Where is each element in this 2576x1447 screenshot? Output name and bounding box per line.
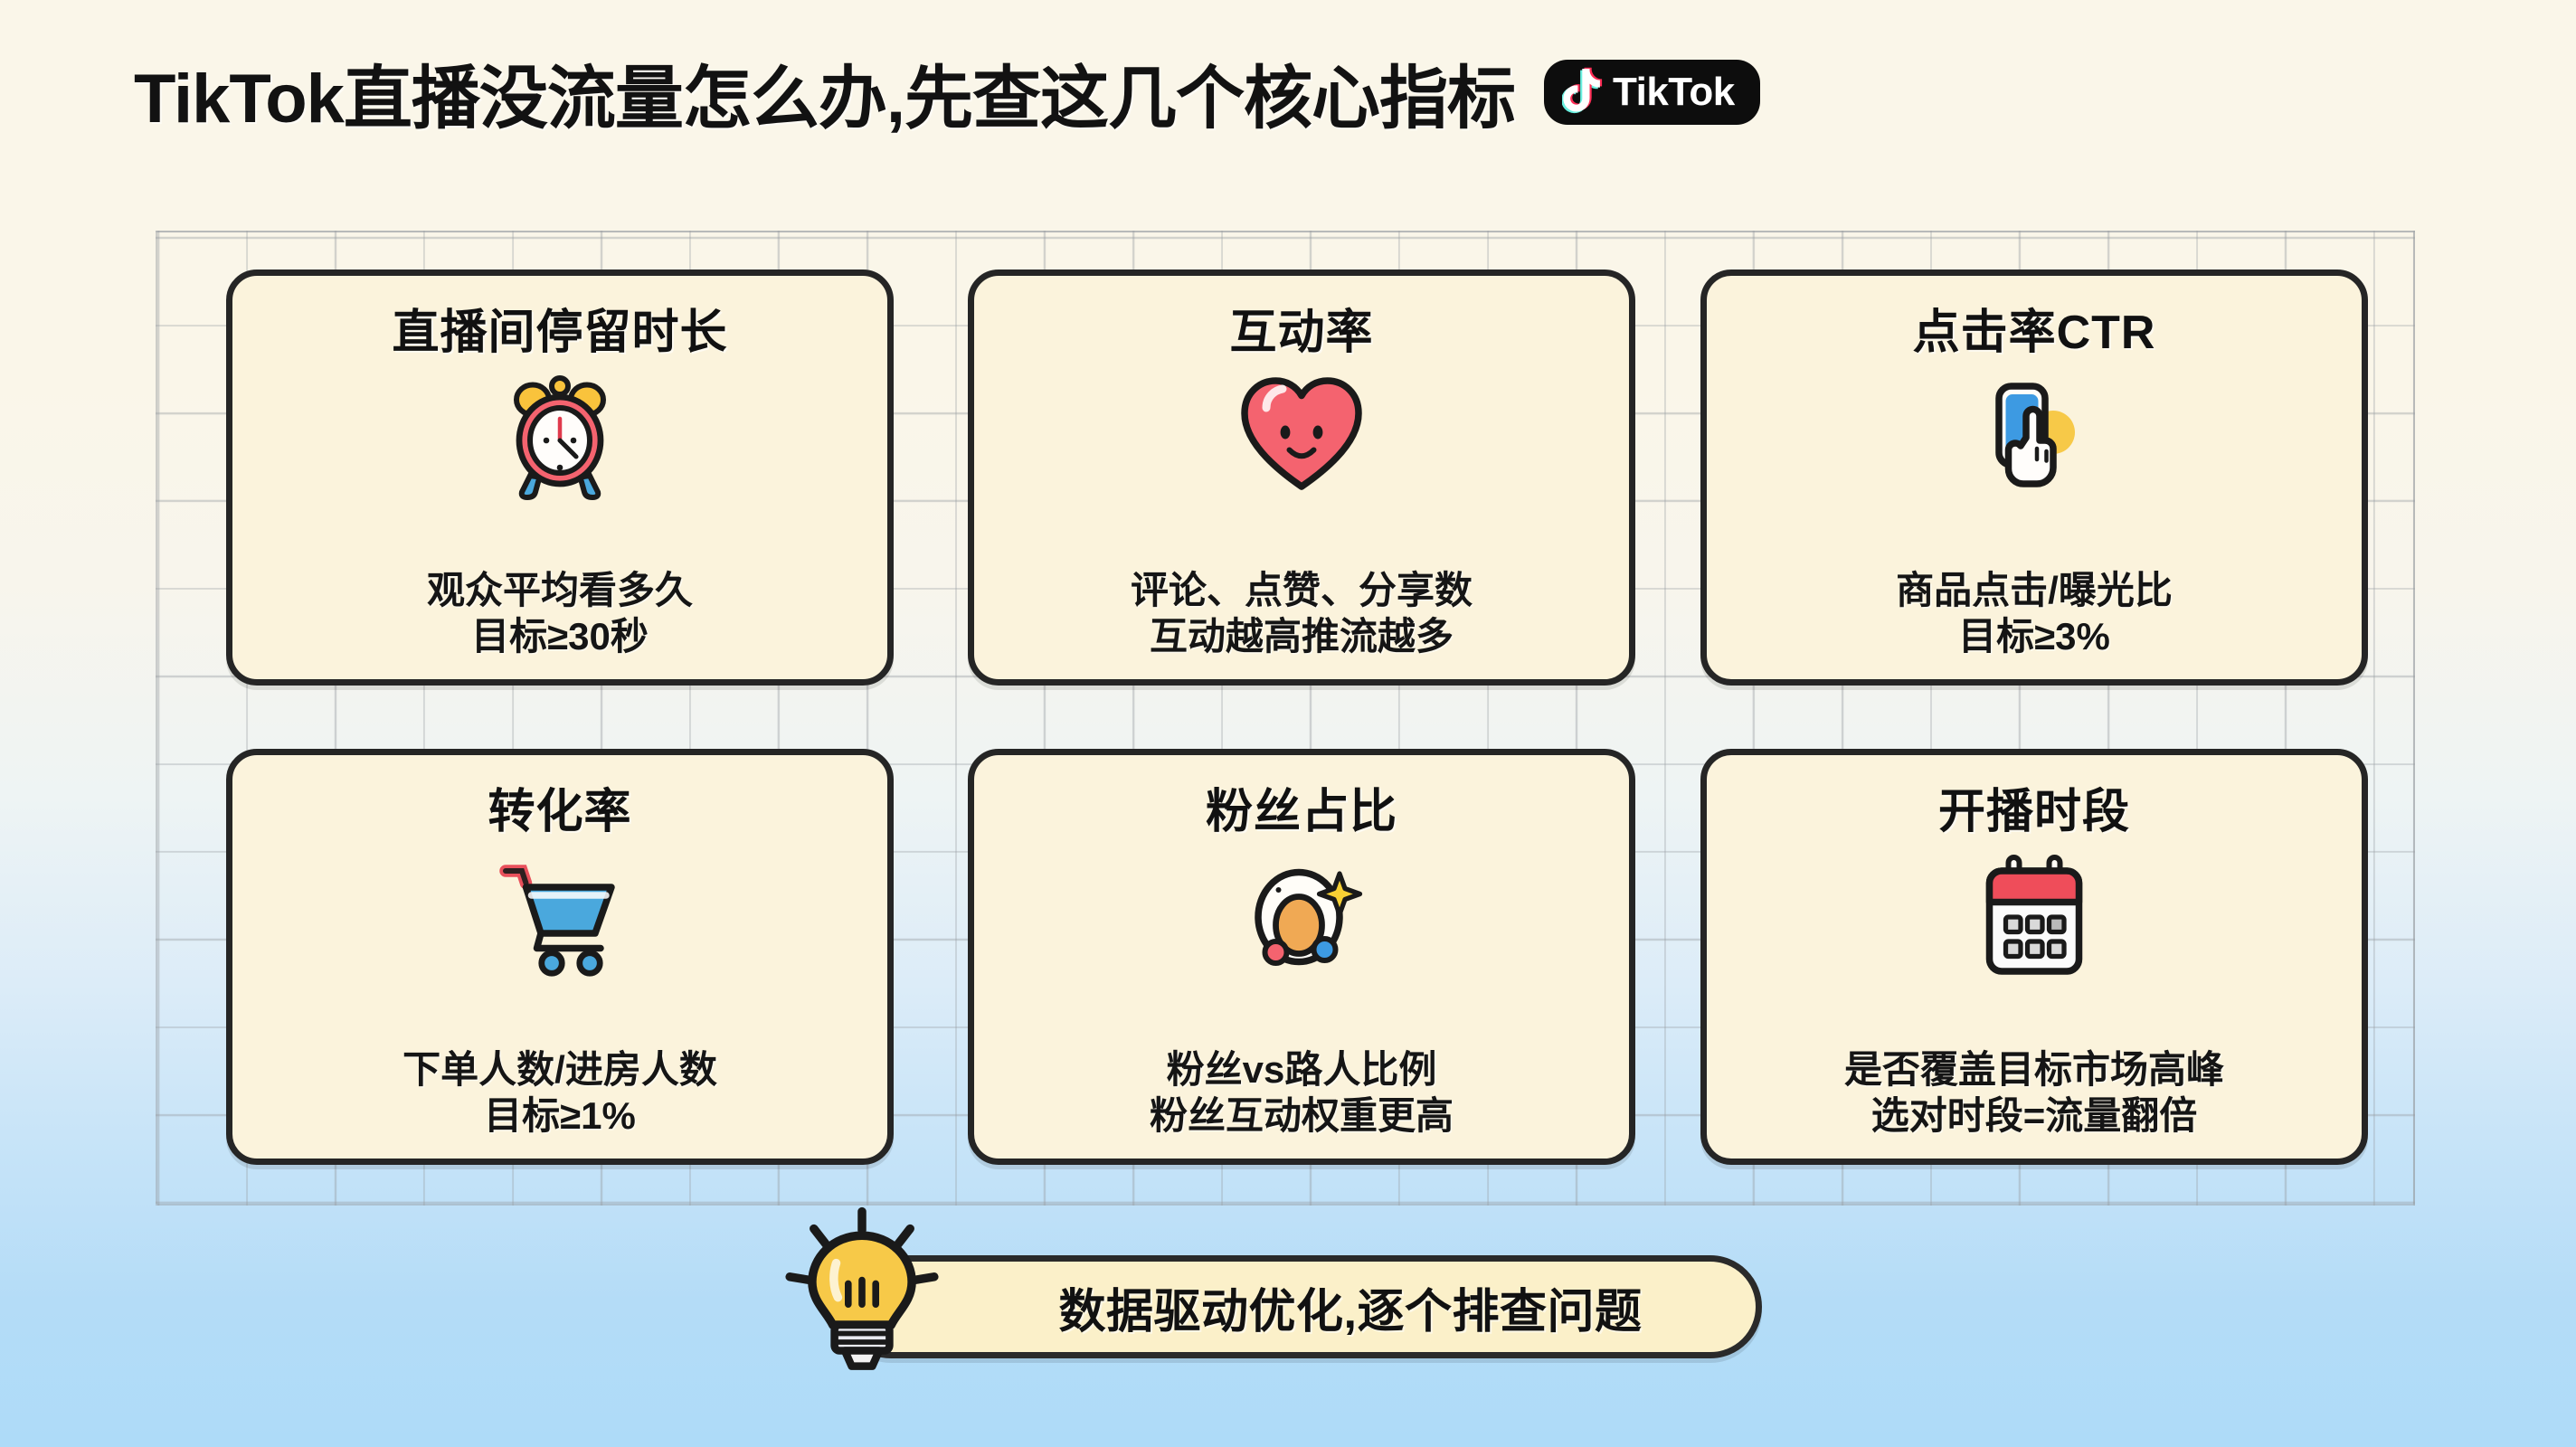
card-line: 目标≥3%: [1896, 613, 2173, 659]
tap-phone-icon: [1966, 367, 2102, 503]
header: TikTok直播没流量怎么办,先查这几个核心指标 TikTok: [134, 47, 2449, 137]
card-description: 下单人数/进房人数 目标≥1%: [402, 1046, 717, 1139]
card-line: 目标≥30秒: [427, 613, 693, 659]
card-title: 开播时段: [1938, 773, 2130, 841]
card-description: 观众平均看多久 目标≥30秒: [427, 567, 693, 659]
footer-banner: 数据驱动优化,逐个排查问题: [796, 1248, 1773, 1366]
card-title: 粉丝占比: [1206, 773, 1397, 841]
tiktok-wordmark: TikTok: [1613, 70, 1735, 115]
shopping-cart-icon: [492, 846, 628, 982]
page-title: TikTok直播没流量怎么办,先查这几个核心指标: [134, 43, 1515, 142]
metric-card-retention: 直播间停留时长 观众平均看多久 目标≥30秒: [226, 270, 894, 686]
metric-card-broadcast-time: 开播时段 是否覆盖目标市场高峰 选对时段=流量翻倍: [1700, 749, 2368, 1165]
card-description: 商品点击/曝光比 目标≥3%: [1896, 567, 2173, 659]
card-line: 下单人数/进房人数: [402, 1046, 717, 1092]
metric-card-ctr: 点击率CTR 商品点击/曝光比 目标≥3%: [1700, 270, 2368, 686]
card-line: 选对时段=流量翻倍: [1844, 1092, 2224, 1139]
card-line: 粉丝互动权重更高: [1150, 1092, 1454, 1139]
card-description: 是否覆盖目标市场高峰 选对时段=流量翻倍: [1844, 1046, 2224, 1139]
card-title: 互动率: [1229, 294, 1373, 362]
card-description: 粉丝vs路人比例 粉丝互动权重更高: [1150, 1046, 1454, 1139]
card-line: 目标≥1%: [402, 1092, 717, 1139]
metric-card-fan-ratio: 粉丝占比 粉丝vs路人比例 粉丝互动权重更高: [968, 749, 1635, 1165]
calendar-icon: [1966, 846, 2102, 982]
footer-pill: 数据驱动优化,逐个排查问题: [839, 1255, 1762, 1358]
card-line: 评论、点赞、分享数: [1131, 567, 1473, 613]
heart-icon: [1234, 367, 1369, 503]
card-title: 转化率: [488, 773, 631, 841]
metric-card-engagement: 互动率 评论、点赞、分享数 互动越高推流越多: [968, 270, 1635, 686]
lightbulb-icon: [776, 1205, 948, 1381]
card-line: 是否覆盖目标市场高峰: [1844, 1046, 2224, 1092]
card-title: 点击率CTR: [1913, 294, 2156, 362]
alarm-clock-icon: [492, 367, 628, 503]
card-line: 粉丝vs路人比例: [1150, 1046, 1454, 1092]
card-line: 观众平均看多久: [427, 567, 693, 613]
card-description: 评论、点赞、分享数 互动越高推流越多: [1131, 567, 1473, 659]
fan-avatar-icon: [1234, 846, 1369, 982]
footer-text: 数据驱动优化,逐个排查问题: [960, 1273, 1643, 1341]
card-title: 直播间停留时长: [392, 294, 727, 362]
card-line: 商品点击/曝光比: [1896, 567, 2173, 613]
card-line: 互动越高推流越多: [1131, 613, 1473, 659]
tiktok-note-icon: [1562, 67, 1604, 118]
tiktok-badge: TikTok: [1544, 60, 1760, 125]
metric-card-conversion: 转化率 下单人数/进房人数 目标≥1%: [226, 749, 894, 1165]
